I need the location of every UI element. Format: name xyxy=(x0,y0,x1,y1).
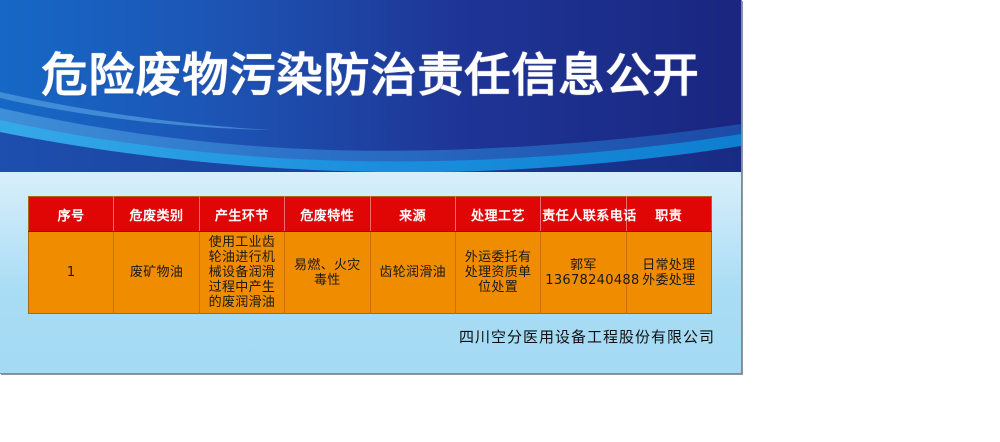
hazardous-waste-table: 序号 危废类别 产生环节 危废特性 来源 处理工艺 责任人联系电话 职责 1 废… xyxy=(28,196,712,314)
cell-contact: 郭军 13678240488 xyxy=(541,232,626,314)
cell-stage-line-3: 械设备润滑 xyxy=(204,265,280,280)
cell-duty-line-2: 外委处理 xyxy=(631,273,707,288)
cell-stage-line-5: 的废润滑油 xyxy=(204,295,280,310)
table-header-row: 序号 危废类别 产生环节 危废特性 来源 处理工艺 责任人联系电话 职责 xyxy=(29,197,712,232)
table-row: 1 废矿物油 使用工业齿 轮油进行机 械设备润滑 过程中产生 的废润滑油 xyxy=(29,232,712,314)
col-header-duty: 职责 xyxy=(626,197,711,232)
col-header-contact: 责任人联系电话 xyxy=(541,197,626,232)
cell-stage: 使用工业齿 轮油进行机 械设备润滑 过程中产生 的废润滑油 xyxy=(199,232,284,314)
col-header-characteristics: 危废特性 xyxy=(285,197,370,232)
cell-contact-person: 郭军 xyxy=(545,258,621,273)
cell-process: 外运委托有 处理资质单 位处置 xyxy=(455,232,540,314)
col-header-process: 处理工艺 xyxy=(455,197,540,232)
cell-process-line-3: 位处置 xyxy=(460,280,536,295)
cell-process-line-1: 外运委托有 xyxy=(460,250,536,265)
col-header-category: 危废类别 xyxy=(114,197,199,232)
banner-header: 危险废物污染防治责任信息公开 xyxy=(0,0,741,172)
col-header-stage: 产生环节 xyxy=(199,197,284,232)
cell-characteristics: 易燃、火灾 毒性 xyxy=(285,232,370,314)
cell-process-line-2: 处理资质单 xyxy=(460,265,536,280)
col-header-source: 来源 xyxy=(370,197,455,232)
cell-stage-line-4: 过程中产生 xyxy=(204,280,280,295)
cell-index: 1 xyxy=(29,232,114,314)
page-title: 危险废物污染防治责任信息公开 xyxy=(0,44,741,106)
hazardous-waste-table-container: 序号 危废类别 产生环节 危废特性 来源 处理工艺 责任人联系电话 职责 1 废… xyxy=(28,196,712,314)
cell-characteristics-line-2: 毒性 xyxy=(289,273,365,288)
company-name: 四川空分医用设备工程股份有限公司 xyxy=(0,326,715,347)
cell-characteristics-line-1: 易燃、火灾 xyxy=(289,258,365,273)
cell-stage-line-1: 使用工业齿 xyxy=(204,235,280,250)
poster: 危险废物污染防治责任信息公开 序号 危废类别 产生环节 危废特性 来源 处理工艺… xyxy=(0,0,742,374)
cell-contact-phone: 13678240488 xyxy=(545,273,621,288)
col-header-index: 序号 xyxy=(29,197,114,232)
cell-category: 废矿物油 xyxy=(114,232,199,314)
cell-source: 齿轮润滑油 xyxy=(370,232,455,314)
cell-duty-line-1: 日常处理 xyxy=(631,258,707,273)
cell-stage-line-2: 轮油进行机 xyxy=(204,250,280,265)
